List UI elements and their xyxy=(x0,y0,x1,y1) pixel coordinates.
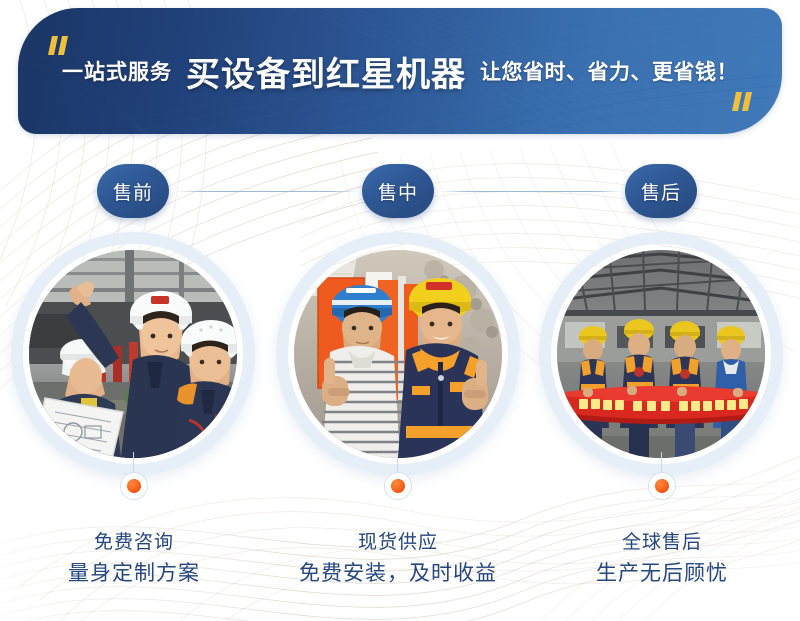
caption-group: 免费咨询 量身定制方案 现货供应 免费安装，及时收益 全球售后 生产无后顾忧 xyxy=(0,528,800,608)
caption-line-2: 生产无后顾忧 xyxy=(530,558,794,590)
step-connector-2 xyxy=(440,191,622,192)
photo-circle-presale[interactable] xyxy=(11,232,255,476)
caption-presale: 免费咨询 量身定制方案 xyxy=(2,528,266,590)
caption-line-1: 现货供应 xyxy=(266,528,530,558)
banner-text-row: 一站式服务 买设备到红星机器 让您省时、省力、更省钱！ xyxy=(18,8,782,134)
marker-dot-icon xyxy=(384,472,412,500)
caption-line-2: 免费安装，及时收益 xyxy=(266,558,530,590)
photo-engineers-blueprint xyxy=(29,250,237,458)
caption-insale: 现货供应 免费安装，及时收益 xyxy=(266,528,530,590)
photo-circle-aftersale[interactable] xyxy=(539,232,783,476)
caption-aftersale: 全球售后 生产无后顾忧 xyxy=(530,528,794,590)
marker-dot-icon xyxy=(648,472,676,500)
caption-line-2: 量身定制方案 xyxy=(2,558,266,590)
step-connector-1 xyxy=(176,191,358,192)
photo-circle-group xyxy=(0,232,800,482)
photo-circle-insale[interactable] xyxy=(276,232,520,476)
step-badge-presale[interactable]: 售前 xyxy=(97,164,169,218)
banner-subtitle: 一站式服务 xyxy=(62,56,172,86)
step-badge-insale[interactable]: 售中 xyxy=(362,164,434,218)
photo-workers-thumbs-up xyxy=(294,250,502,458)
photo-team-banner xyxy=(557,250,765,458)
marker-dot-icon xyxy=(120,472,148,500)
hero-banner: 一站式服务 买设备到红星机器 让您省时、省力、更省钱！ xyxy=(18,8,782,134)
caption-line-1: 全球售后 xyxy=(530,528,794,558)
banner-headline: 买设备到红星机器 xyxy=(186,47,466,96)
caption-line-1: 免费咨询 xyxy=(2,528,266,558)
marker-group xyxy=(0,452,800,512)
process-steps: 售前 售中 售后 xyxy=(0,164,800,220)
step-badge-aftersale[interactable]: 售后 xyxy=(625,164,697,218)
banner-tagline: 让您省时、省力、更省钱！ xyxy=(480,56,738,86)
